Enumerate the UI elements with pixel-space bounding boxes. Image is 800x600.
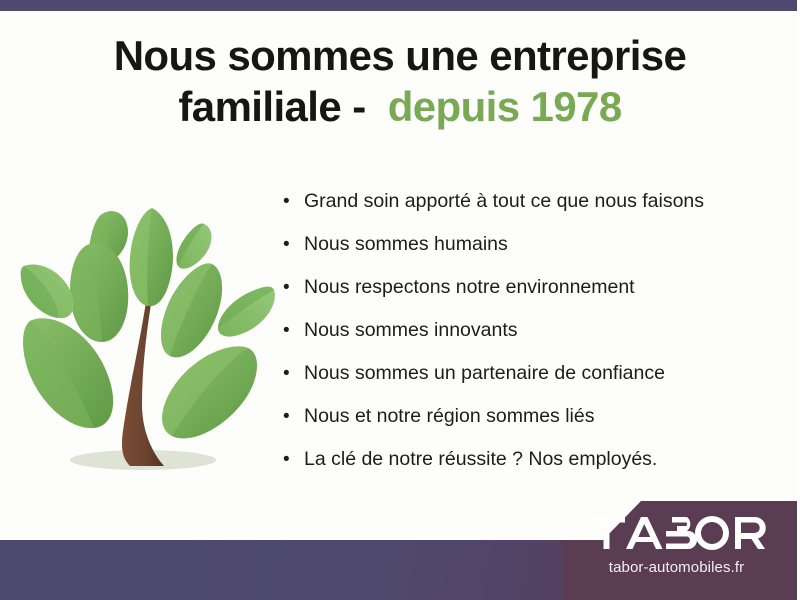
list-item: • La clé de notre réussite ? Nos employé… [283,450,783,493]
tree-leaf-far-left [21,264,74,318]
list-item: • Nous et notre région sommes liés [283,407,783,450]
title-gap [366,83,388,130]
list-item: • Nous sommes humains [283,235,783,278]
list-item: • Nous sommes innovants [283,321,783,364]
bullet-marker-icon: • [283,321,304,340]
list-item-label: Nous et notre région sommes liés [304,407,594,427]
title-accent-text: depuis 1978 [388,83,622,130]
tree-leaf-top-center [130,208,173,306]
title-line-1-text: Nous sommes une entreprise [114,32,687,79]
list-item-label: Nous sommes humains [304,235,508,255]
bullet-marker-icon: • [283,364,304,383]
tree-leaf-upper-right-small [176,224,211,269]
bullet-marker-icon: • [283,235,304,254]
list-item-label: Nous respectons notre environnement [304,278,635,298]
feature-bullet-list: • Grand soin apporté à tout ce que nous … [283,192,783,493]
title-line-1: Nous sommes une entreprise [0,32,800,79]
page-title: Nous sommes une entreprise familiale - d… [0,32,800,130]
top-accent-bar [0,0,800,11]
title-dash-glyph: - [352,83,365,130]
bullet-marker-icon: • [283,407,304,426]
list-item: • Nous respectons notre environnement [283,278,783,321]
tree-leaf-bottom-right [162,346,257,438]
tree-illustration [18,178,280,490]
list-item-label: Nous sommes un partenaire de confiance [304,364,665,384]
list-item-label: La clé de notre réussite ? Nos employés. [304,450,657,470]
tree-leaf-left-upper [70,243,128,342]
title-line-2-prefix: familiale [178,83,341,130]
bullet-marker-icon: • [283,450,304,469]
tree-trunk [122,302,164,466]
slide-canvas: Nous sommes une entreprise familiale - d… [0,0,800,600]
bullet-marker-icon: • [283,278,304,297]
list-item: • Nous sommes un partenaire de confiance [283,364,783,407]
title-dash [341,83,352,130]
tree-leaf-far-right [218,287,275,337]
title-line-2: familiale - depuis 1978 [0,83,800,130]
bullet-marker-icon: • [283,192,304,211]
list-item-label: Nous sommes innovants [304,321,518,341]
list-item: • Grand soin apporté à tout ce que nous … [283,192,783,235]
list-item-label: Grand soin apporté à tout ce que nous fa… [304,192,704,212]
